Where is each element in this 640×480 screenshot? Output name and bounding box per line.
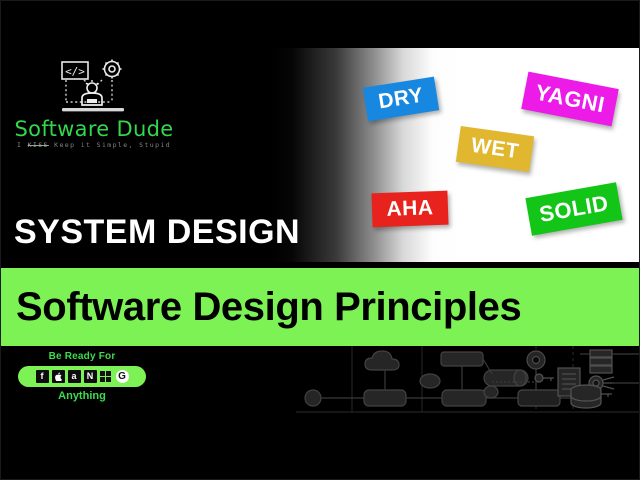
hero-kicker: SYSTEM DESIGN [14,215,300,249]
footer-section: Be Ready For f a N G Anything [0,346,640,480]
video-thumbnail: </> [0,0,640,480]
facebook-icon: f [36,370,49,383]
microsoft-icon [100,370,113,383]
brand-tagline: I KISS Keep it Simple, Stupid [14,141,174,149]
system-architecture-diagram-watermark [296,346,640,426]
amazon-icon: a [68,370,81,383]
page-title: Software Design Principles [0,287,521,327]
svg-text:</>: </> [65,65,85,78]
netflix-icon: N [84,370,97,383]
brand-logo: </> [14,58,174,149]
google-icon: G [116,370,129,383]
title-band: Software Design Principles [0,268,640,346]
be-ready-badge: Be Ready For f a N G Anything [18,351,146,402]
apple-icon [52,370,65,383]
principle-card-aha: AHA [371,191,448,228]
brand-name: Software Dude [14,118,174,140]
be-ready-label: Be Ready For [18,351,146,362]
developer-laptop-code-gear-icon: </> [54,58,134,116]
hero-gradient-panel [270,48,640,262]
faang-logo-pill: f a N G [18,366,146,387]
tagline-strikethrough: KISS [28,141,49,149]
tagline-prefix: I [17,141,28,149]
tagline-suffix: Keep it Simple, Stupid [49,141,171,149]
anything-label: Anything [18,390,146,402]
hero-section: </> [0,0,640,262]
